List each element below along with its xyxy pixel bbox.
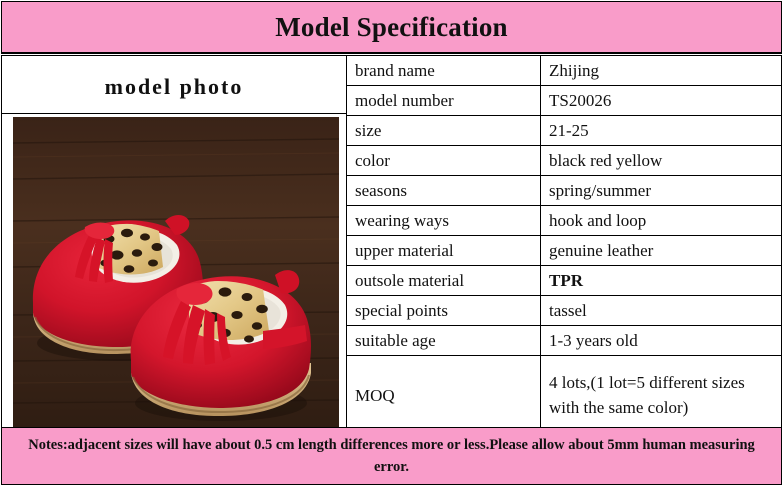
- spec-value: genuine leather: [541, 236, 782, 266]
- spec-label: upper material: [347, 236, 541, 266]
- footer-note-line-1: Notes:adjacent sizes will have about 0.5…: [28, 437, 686, 453]
- spec-label: seasons: [347, 176, 541, 206]
- model-photo-cell: model photo: [2, 56, 347, 437]
- spec-label: special points: [347, 296, 541, 326]
- moq-line-1: 4 lots,(1 lot=5 different sizes: [549, 371, 781, 396]
- spec-label: wearing ways: [347, 206, 541, 236]
- spec-value: hook and loop: [541, 206, 782, 236]
- footer-note: Notes:adjacent sizes will have about 0.5…: [26, 434, 757, 479]
- moq-line-2: with the same color): [549, 396, 781, 421]
- specification-table-body: model photo: [2, 56, 782, 437]
- spec-value: tassel: [541, 296, 782, 326]
- spec-label-moq: MOQ: [347, 356, 541, 437]
- spec-value: 21-25: [541, 116, 782, 146]
- spec-label: color: [347, 146, 541, 176]
- spec-label: outsole material: [347, 266, 541, 296]
- spec-value-moq: 4 lots,(1 lot=5 different sizes with the…: [541, 356, 782, 437]
- page-title: Model Specification: [275, 14, 508, 41]
- spec-value: TPR: [541, 266, 782, 296]
- spec-value: Zhijing: [541, 56, 782, 86]
- spec-label: model number: [347, 86, 541, 116]
- spec-label: brand name: [347, 56, 541, 86]
- table-row: model photo: [2, 56, 782, 86]
- model-photo-image: [13, 117, 339, 429]
- spec-value: spring/summer: [541, 176, 782, 206]
- model-photo-frame: [2, 114, 346, 431]
- spec-label: size: [347, 116, 541, 146]
- spec-value: 1-3 years old: [541, 326, 782, 356]
- spec-label: suitable age: [347, 326, 541, 356]
- footer-note-band: Notes:adjacent sizes will have about 0.5…: [1, 427, 782, 485]
- model-photo-heading: model photo: [2, 61, 346, 114]
- spec-value: black red yellow: [541, 146, 782, 176]
- model-specification-page: Model Specification model photo: [0, 0, 784, 493]
- page-title-band: Model Specification: [1, 1, 782, 54]
- specification-table: model photo: [1, 55, 782, 437]
- spec-value: TS20026: [541, 86, 782, 116]
